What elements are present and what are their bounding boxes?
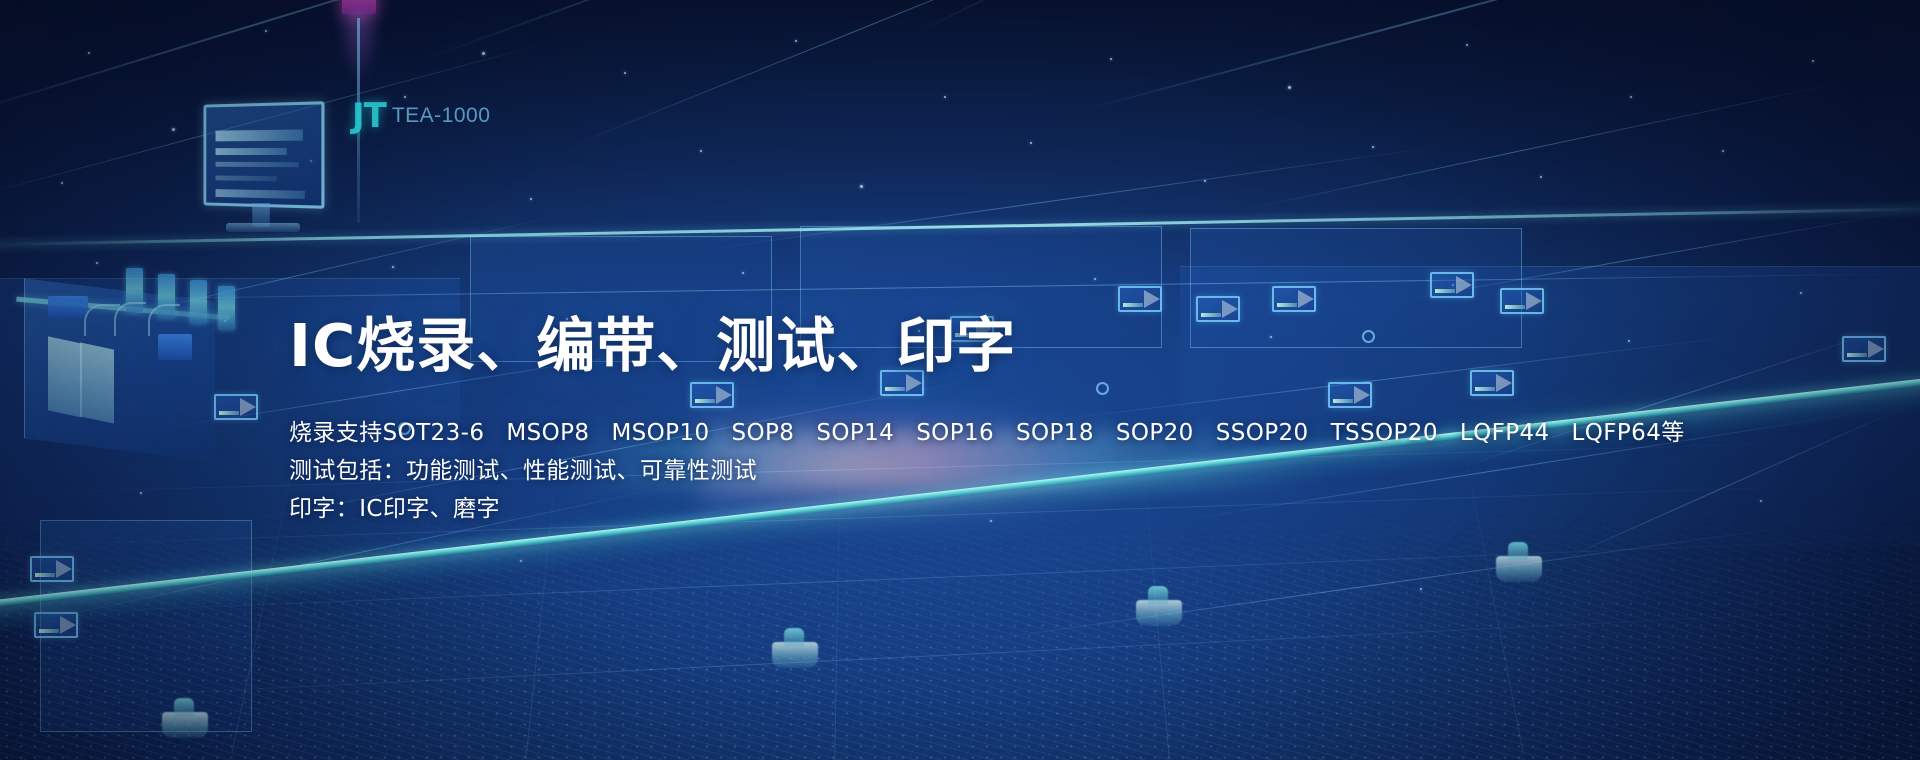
burn-prefix-label: 烧录支持 — [289, 420, 383, 446]
package-list: SOT23-6MSOP8MSOP10SOP8SOP14SOP16SOP18SOP… — [383, 420, 1685, 446]
package-item: LQFP44 — [1460, 420, 1550, 446]
service-line-burn: 烧录支持SOT23-6MSOP8MSOP10SOP8SOP14SOP16SOP1… — [289, 414, 1589, 452]
package-item: SOP20 — [1116, 420, 1194, 446]
package-item: LQFP64等 — [1572, 420, 1685, 446]
hero-banner: JT TEA-1000 IC烧录、编带、测试、印字 烧录支持SOT23-6MSO… — [0, 0, 1920, 760]
watermark-logo: JT TEA-1000 — [352, 96, 490, 136]
page-title: IC烧录、编带、测试、印字 — [289, 314, 1589, 378]
package-item: MSOP8 — [506, 420, 589, 446]
hero-copy: IC烧录、编带、测试、印字 烧录支持SOT23-6MSOP8MSOP10SOP8… — [289, 314, 1589, 528]
service-line-marking: 印字：IC印字、磨字 — [289, 490, 1589, 528]
package-item: SOP14 — [816, 420, 894, 446]
package-item: SOP16 — [916, 420, 994, 446]
brand-mark: JT — [352, 96, 386, 136]
package-item: TSSOP20 — [1331, 420, 1438, 446]
model-label: TEA-1000 — [392, 104, 491, 128]
package-item: SOP18 — [1016, 420, 1094, 446]
package-item: SOT23-6 — [383, 420, 485, 446]
package-item: MSOP10 — [611, 420, 709, 446]
service-line-testing: 测试包括：功能测试、性能测试、可靠性测试 — [289, 452, 1589, 490]
package-item: SSOP20 — [1216, 420, 1309, 446]
service-detail-list: 烧录支持SOT23-6MSOP8MSOP10SOP8SOP14SOP16SOP1… — [289, 414, 1589, 528]
package-item: SOP8 — [732, 420, 795, 446]
